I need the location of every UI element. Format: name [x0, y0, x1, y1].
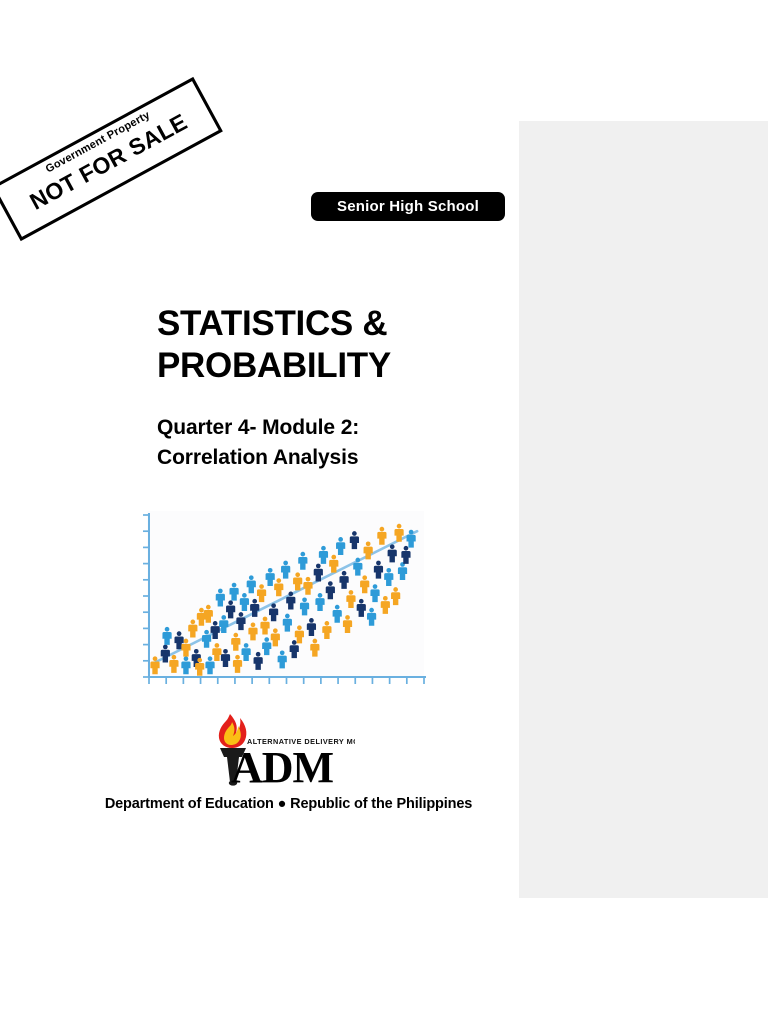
- adm-acronym: ADM: [231, 743, 334, 788]
- scatter-chart-svg: [138, 509, 433, 699]
- adm-logo: ALTERNATIVE DELIVERY MODE ADM: [205, 706, 355, 788]
- page-title: STATISTICS & PROBABILITY: [157, 303, 487, 386]
- page-title-line-2: PROBABILITY: [157, 345, 487, 387]
- page-title-line-1: STATISTICS &: [157, 303, 487, 345]
- stamp-line-not-for-sale: NOT FOR SALE: [1, 95, 216, 228]
- page-subtitle-line-2: Correlation Analysis: [157, 443, 487, 473]
- senior-high-school-badge: Senior High School: [311, 192, 505, 221]
- correlation-scatter-illustration: [138, 509, 433, 699]
- senior-high-school-badge-label: Senior High School: [337, 198, 479, 215]
- page-subtitle-line-1: Quarter 4- Module 2:: [157, 413, 487, 443]
- department-of-education-line: Department of Education ● Republic of th…: [0, 796, 577, 812]
- adm-logo-svg: ALTERNATIVE DELIVERY MODE ADM: [205, 706, 355, 788]
- page-subtitle: Quarter 4- Module 2: Correlation Analysi…: [157, 413, 487, 473]
- not-for-sale-stamp: Government Property NOT FOR SALE: [0, 77, 223, 241]
- right-gray-panel: [519, 121, 768, 898]
